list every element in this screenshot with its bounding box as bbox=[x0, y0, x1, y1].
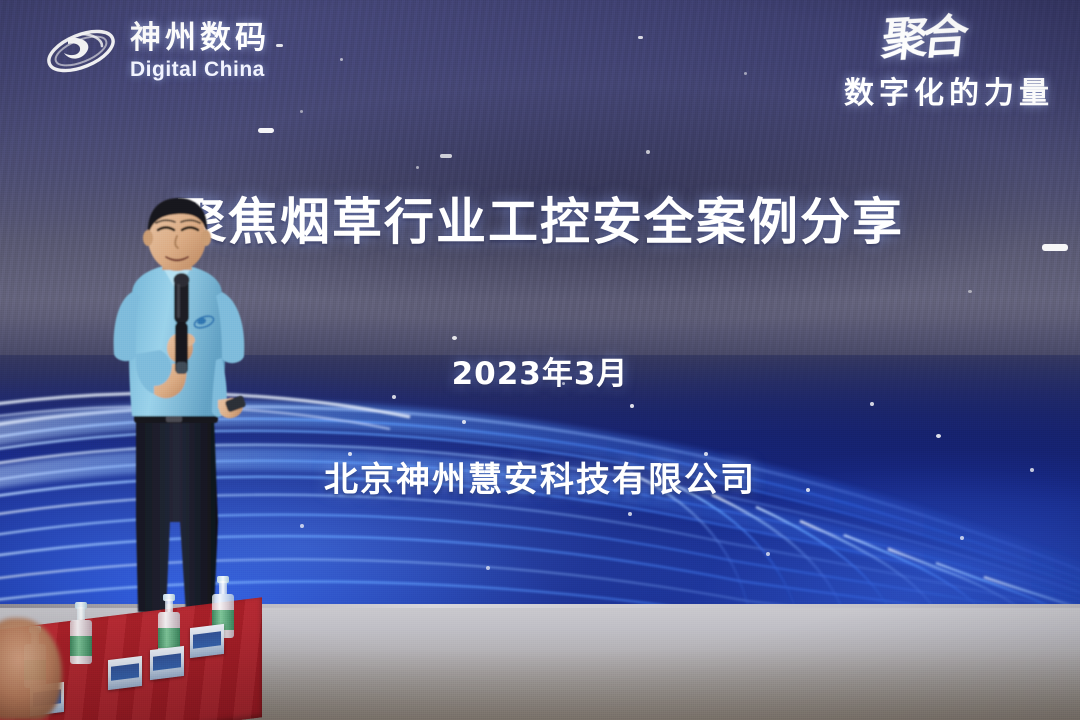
name-placard bbox=[190, 624, 224, 658]
bottle-label bbox=[158, 628, 180, 648]
bottle-label bbox=[70, 636, 92, 656]
event-subtitle: 数字化的力量 bbox=[844, 68, 1054, 112]
speaker-illustration bbox=[92, 222, 282, 622]
bottle-neck bbox=[165, 599, 173, 612]
name-placard bbox=[150, 646, 184, 680]
water-bottle bbox=[70, 602, 92, 664]
speaker-figure bbox=[92, 222, 282, 622]
digital-china-swirl-icon bbox=[44, 22, 118, 80]
name-placard bbox=[108, 656, 142, 690]
event-brand-logo: 聚合 数字化的力量 bbox=[844, 18, 1054, 112]
presentation-clicker bbox=[224, 395, 246, 413]
event-brush-title: 聚合 bbox=[841, 15, 964, 65]
digital-china-name-en: Digital China bbox=[130, 59, 270, 80]
digital-china-logo: 神州数码 Digital China bbox=[44, 22, 270, 80]
bottle-neck bbox=[77, 607, 85, 620]
conference-photo: 神州数码 Digital China 聚合 数字化的力量 聚焦烟草行业工控安全案… bbox=[0, 0, 1080, 720]
digital-china-name-cn: 神州数码 bbox=[130, 23, 270, 54]
bottle-neck bbox=[219, 581, 227, 594]
